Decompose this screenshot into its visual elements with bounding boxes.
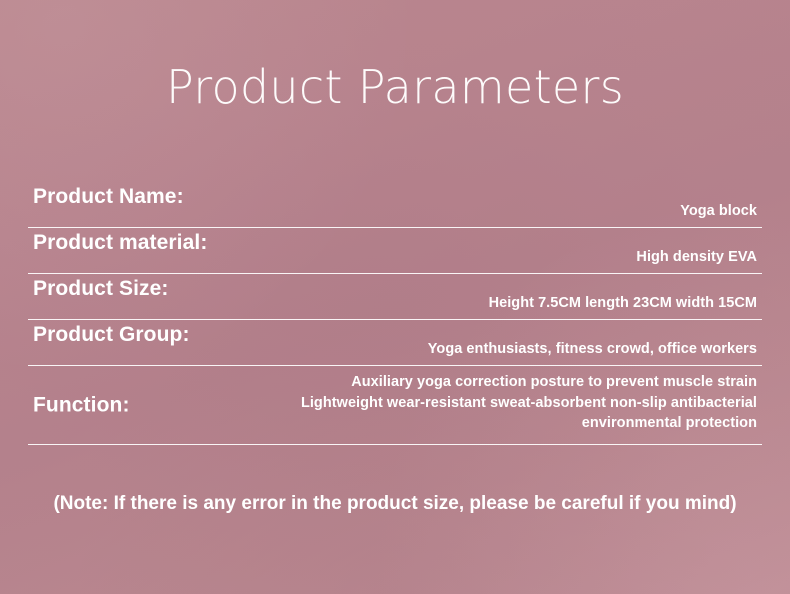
value-line: Yoga enthusiasts, fitness crowd, office …: [228, 339, 757, 360]
page-title: Product Parameters: [0, 64, 790, 110]
row-label-product-name: Product Name:: [33, 186, 184, 207]
row-label-product-group: Product Group:: [33, 324, 190, 345]
row-value-product-size: Height 7.5CM length 23CM width 15CM: [228, 293, 762, 314]
row-label-product-material: Product material:: [33, 232, 207, 253]
value-line: environmental protection: [178, 413, 757, 434]
table-row: Product Size: Height 7.5CM length 23CM w…: [28, 274, 762, 320]
row-value-product-name: Yoga block: [228, 201, 762, 222]
table-row: Product Group: Yoga enthusiasts, fitness…: [28, 320, 762, 366]
table-row: Product material: High density EVA: [28, 228, 762, 274]
row-value-product-group: Yoga enthusiasts, fitness crowd, office …: [228, 339, 762, 360]
table-row: Function: Auxiliary yoga correction post…: [28, 366, 762, 445]
product-parameters-card: Product Parameters Product Name: Yoga bl…: [0, 0, 790, 594]
value-line: Yoga block: [228, 201, 757, 222]
row-label-function: Function:: [33, 395, 130, 416]
value-line: High density EVA: [228, 247, 757, 268]
value-line: Height 7.5CM length 23CM width 15CM: [228, 293, 757, 314]
row-label-product-size: Product Size:: [33, 278, 168, 299]
size-disclaimer-note: (Note: If there is any error in the prod…: [0, 494, 790, 513]
row-value-function: Auxiliary yoga correction posture to pre…: [178, 372, 762, 434]
row-value-product-material: High density EVA: [228, 247, 762, 268]
value-line: Lightweight wear-resistant sweat-absorbe…: [178, 393, 757, 414]
value-line: Auxiliary yoga correction posture to pre…: [178, 372, 757, 393]
table-row: Product Name: Yoga block: [28, 182, 762, 228]
spec-table: Product Name: Yoga block Product materia…: [28, 182, 762, 445]
